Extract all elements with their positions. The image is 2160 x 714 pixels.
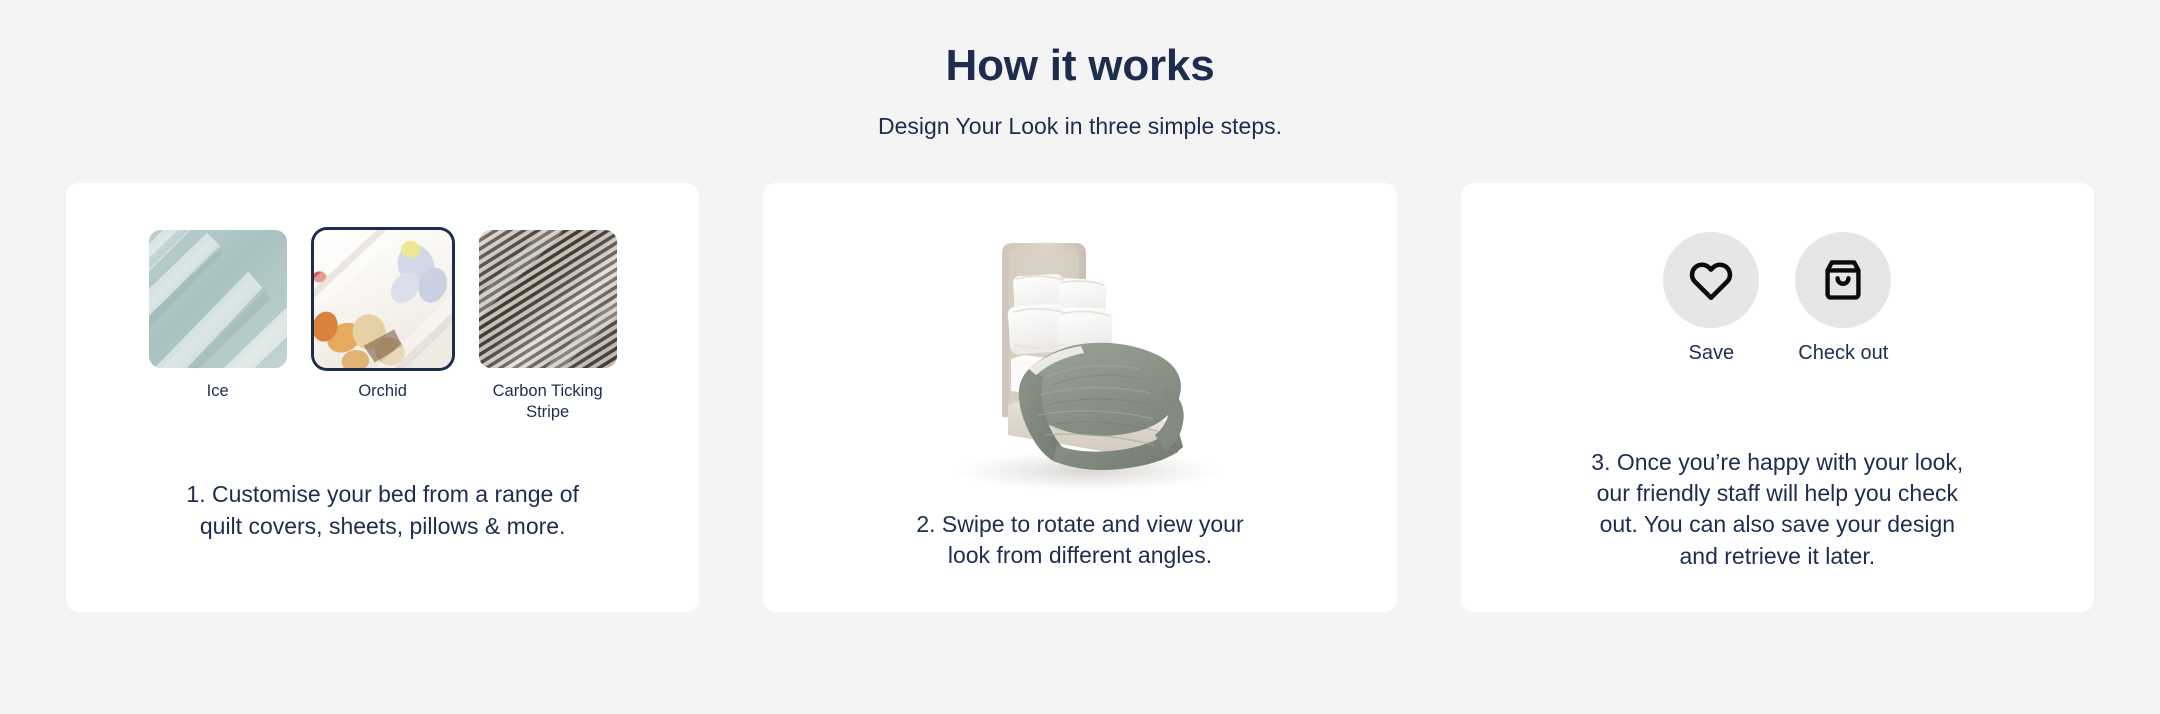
bed-preview[interactable] — [789, 209, 1370, 509]
step-caption-customise: 1. Customise your bed from a range of qu… — [118, 479, 648, 542]
save-button-circle[interactable] — [1663, 232, 1759, 328]
step-card-customise: Ice — [66, 183, 699, 612]
save-button-label: Save — [1689, 341, 1735, 365]
swatch-row: Ice — [149, 230, 617, 423]
swatch-picker: Ice — [92, 209, 673, 479]
shopping-bag-icon — [1818, 255, 1868, 305]
save-button[interactable]: Save — [1663, 232, 1759, 365]
step-card-checkout: Save Check out 3. Once y — [1461, 183, 2094, 612]
page-subtitle: Design Your Look in three simple steps. — [66, 112, 2094, 142]
swatch-option-ice[interactable]: Ice — [149, 230, 287, 423]
checkout-button-label: Check out — [1798, 341, 1888, 365]
checkout-button-circle[interactable] — [1795, 232, 1891, 328]
action-buttons: Save Check out — [1487, 209, 2068, 447]
section-header: How it works Design Your Look in three s… — [66, 0, 2094, 142]
step-card-rotate: 2. Swipe to rotate and view your look fr… — [763, 183, 1396, 612]
swatch-label-orchid: Orchid — [358, 381, 407, 402]
bed-render-image — [910, 209, 1250, 509]
step-caption-rotate: 2. Swipe to rotate and view your look fr… — [815, 509, 1345, 572]
action-row: Save Check out — [1663, 232, 1891, 365]
swatch-thumb-carbon-ticking-stripe[interactable] — [479, 230, 617, 368]
swatch-option-orchid[interactable]: Orchid — [314, 230, 452, 423]
swatch-label-carbon-ticking-stripe: Carbon Ticking Stripe — [479, 381, 617, 423]
step-caption-checkout: 3. Once you’re happy with your look, our… — [1497, 447, 2057, 572]
bed-render-stage[interactable] — [789, 209, 1370, 509]
steps-card-row: Ice — [66, 183, 2094, 612]
checkout-button[interactable]: Check out — [1795, 232, 1891, 365]
how-it-works-section: How it works Design Your Look in three s… — [0, 0, 2160, 714]
heart-icon — [1685, 254, 1737, 306]
swatch-option-carbon-ticking-stripe[interactable]: Carbon Ticking Stripe — [479, 230, 617, 423]
swatch-thumb-orchid[interactable] — [314, 230, 452, 368]
swatch-label-ice: Ice — [207, 381, 229, 402]
page-title: How it works — [66, 40, 2094, 92]
swatch-thumb-ice[interactable] — [149, 230, 287, 368]
